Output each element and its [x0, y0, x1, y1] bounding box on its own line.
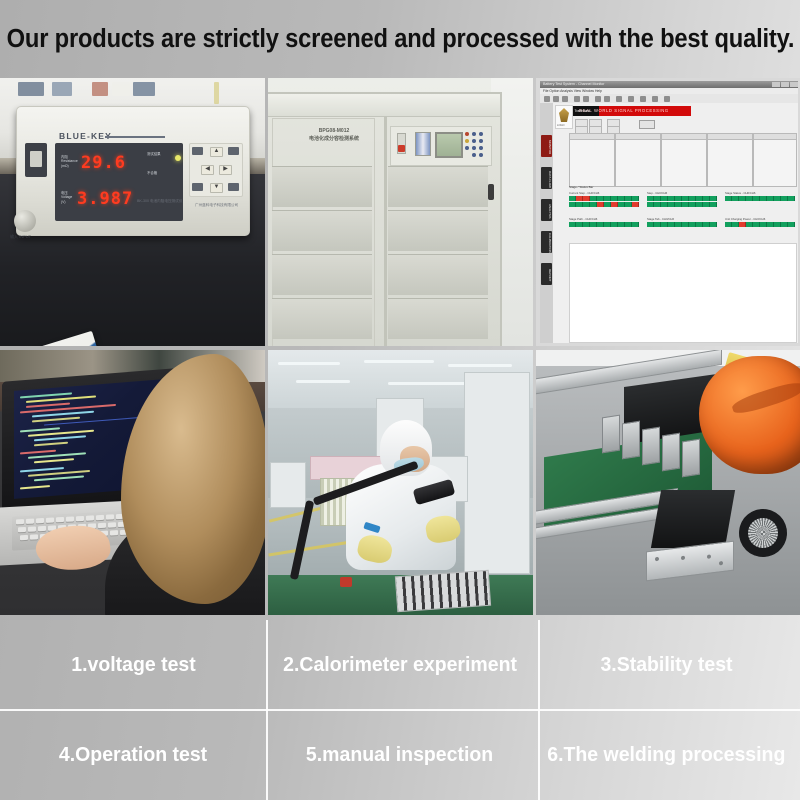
status-cell [732, 222, 739, 227]
status-cell [604, 196, 611, 201]
window-title: Battery Test System - Channel Monitor [543, 82, 604, 86]
status-cell [597, 196, 604, 201]
cell-clamp [662, 433, 680, 472]
clamp-shelf [272, 254, 372, 295]
save-icon[interactable] [553, 96, 559, 102]
status-cell [760, 196, 767, 201]
strip-label: Unit Charging Power - CH0/CH6 [725, 217, 795, 221]
status-cell [725, 196, 732, 201]
stop-icon[interactable] [604, 96, 610, 102]
indicator-light-blue [465, 146, 469, 150]
panel-button[interactable] [472, 146, 476, 150]
status-cell [569, 202, 576, 207]
shelf-object [112, 82, 130, 96]
strip-label: Step - CH0/CH6 [647, 191, 717, 195]
indicator-light-yellow [465, 139, 469, 143]
fail-label: 不合格 [147, 171, 157, 175]
param-table [707, 133, 753, 187]
status-cell [590, 196, 597, 201]
status-cell [675, 222, 682, 227]
status-strip [647, 202, 717, 207]
side-cabinet [270, 462, 306, 508]
cable-connector [14, 210, 36, 232]
panel-button[interactable] [472, 153, 476, 157]
power-switch[interactable] [397, 133, 406, 154]
panel-button[interactable] [472, 132, 476, 136]
settings-icon[interactable] [616, 96, 622, 102]
sidebar-item-calibration[interactable]: CALIBRATION [541, 231, 552, 253]
status-cell [576, 196, 583, 201]
key-up-arrow[interactable]: ▲ [210, 147, 223, 157]
caption-text-1: 1.voltage test [71, 653, 195, 677]
open-icon[interactable] [544, 96, 550, 102]
table-icon[interactable] [583, 96, 589, 102]
minimize-button[interactable] [772, 82, 780, 87]
status-cell [654, 222, 661, 227]
panel-button[interactable] [479, 132, 483, 136]
caption-text-3: 3.Stability test [601, 653, 733, 677]
red-component [340, 577, 352, 587]
cell-clamp [622, 421, 640, 460]
status-cell [781, 196, 788, 201]
param-table [753, 133, 797, 187]
strip-group: Current Step - CH0/CH6 [569, 191, 639, 208]
status-cell [625, 222, 632, 227]
clamp-shelf [388, 166, 488, 207]
panel-button[interactable] [479, 153, 483, 157]
status-cell [746, 196, 753, 201]
strip-group: Step - CH0/CH6 [647, 191, 717, 208]
component-tray [395, 570, 491, 612]
status-cell [774, 196, 781, 201]
chart-area-blank [569, 243, 797, 343]
page-title: Our products are strictly screened and p… [6, 25, 794, 54]
status-cell [767, 222, 774, 227]
caption-cell-4: 4.Operation test [0, 710, 267, 800]
status-strip [725, 196, 795, 201]
device-manufacturer-text: 广州蓝科电子科技有限公司 [195, 203, 238, 208]
play-icon[interactable] [595, 96, 601, 102]
status-cell [703, 222, 710, 227]
status-cell [647, 196, 654, 201]
status-strip [569, 196, 639, 201]
banner-text: REAL WORLD SIGNAL PROCESSING [579, 108, 669, 113]
caption-cell-2: 2.Calorimeter experiment [267, 620, 534, 710]
status-cell [710, 222, 717, 227]
status-cell [689, 222, 696, 227]
logo-emblem-icon [559, 108, 569, 122]
logo-caption: LOGO [557, 124, 565, 127]
toolbar[interactable] [540, 94, 798, 103]
status-cell [604, 202, 611, 207]
status-cell [689, 196, 696, 201]
caption-cell-3: 3.Stability test [533, 620, 800, 710]
caption-cell-1: 1.voltage test [0, 620, 267, 710]
status-cell [675, 196, 682, 201]
status-cell [710, 196, 717, 201]
status-cell [760, 222, 767, 227]
status-strip [569, 222, 639, 227]
param-table [569, 133, 615, 187]
status-cell [703, 202, 710, 207]
cabinet-center-divider [384, 116, 387, 346]
analog-meter [415, 132, 431, 156]
status-cell [632, 222, 639, 227]
shelf-object [52, 82, 72, 96]
status-cell [767, 196, 774, 201]
photo-voltage-test: BLUE-KEY 内阻 Resistance (mΩ) 29.6 电压 Volt… [0, 78, 265, 346]
status-cell [689, 202, 696, 207]
refresh-icon[interactable] [652, 96, 658, 102]
status-cell [611, 202, 618, 207]
clamp-shelf [272, 298, 372, 339]
key-return[interactable] [228, 183, 239, 191]
status-cell [654, 196, 661, 201]
input-port-label: 输入 INPUT [10, 234, 31, 239]
strip-label: Current Step - CH0/CH6 [569, 191, 639, 195]
status-cell [590, 222, 597, 227]
export-icon[interactable] [640, 96, 646, 102]
status-cell [611, 196, 618, 201]
drive-gear [739, 509, 787, 557]
software-window: Battery Test System - Channel Monitor Fi… [540, 81, 798, 343]
sidebar-item-data-flow[interactable]: DATA FLOW [541, 167, 552, 189]
status-cell [781, 222, 788, 227]
menu-items[interactable]: File Option Analysis View Window Help [543, 89, 602, 93]
photo-grid: BLUE-KEY 内阻 Resistance (mΩ) 29.6 电压 Volt… [0, 78, 800, 618]
device-socket [25, 143, 47, 177]
status-cell [647, 222, 654, 227]
status-cell [625, 202, 632, 207]
table-header [708, 134, 752, 140]
window-titlebar[interactable]: Battery Test System - Channel Monitor [540, 81, 798, 88]
status-cell [696, 202, 703, 207]
sidebar-item-monitor[interactable]: MONITOR [541, 135, 552, 157]
status-cell [625, 196, 632, 201]
status-cell [604, 222, 611, 227]
cell-clamp [602, 415, 620, 454]
status-cell [682, 196, 689, 201]
device-keypad[interactable]: ▲ ◀ ▶ ▼ [189, 143, 243, 197]
status-cell [788, 196, 795, 201]
maximize-button[interactable] [781, 82, 789, 87]
cabinet-door-handle[interactable] [488, 184, 494, 200]
status-strip [725, 222, 795, 227]
strip-group: Stage Tab - CH0/CH6 [647, 217, 717, 228]
indicator-light-red [465, 132, 469, 136]
socket-insert [30, 151, 42, 167]
status-cell [618, 222, 625, 227]
status-cell [661, 196, 668, 201]
status-cell [668, 222, 675, 227]
status-cell [618, 202, 625, 207]
caption-text-2: 2.Calorimeter experiment [283, 653, 517, 677]
formation-cabinet: BPG08-M012 电池化成分容检测系统 [268, 92, 502, 346]
status-cell [590, 202, 597, 207]
shelf-object [133, 82, 155, 96]
table-header [570, 134, 614, 140]
key-right-arrow[interactable]: ▶ [219, 165, 232, 175]
search-icon[interactable] [628, 96, 634, 102]
resistance-label: 内阻 Resistance (mΩ) [61, 155, 78, 168]
key-setting[interactable] [192, 147, 203, 155]
caption-cell-5: 5.manual inspection [267, 710, 534, 800]
panel-button[interactable] [472, 139, 476, 143]
status-strip [569, 202, 639, 207]
photo-manual-inspection [268, 350, 533, 615]
caption-grid: 1.voltage test 2.Calorimeter experiment … [0, 620, 800, 800]
display-panel: 内阻 Resistance (mΩ) 29.6 电压 Voltage (V) 3… [55, 143, 183, 221]
clamp-shelf [272, 166, 372, 207]
status-cell [774, 222, 781, 227]
cell-clamp [642, 427, 660, 466]
status-cell [576, 202, 583, 207]
strip-group: Stage Path - CH0/CH6 [569, 217, 639, 228]
cell-clamp [682, 439, 700, 478]
resistance-reading: 29.6 [81, 153, 126, 173]
help-icon[interactable] [664, 96, 670, 102]
clamp-shelf [388, 298, 488, 339]
photo-operation-test [0, 350, 265, 615]
section-label: Stage / Status Bar [569, 185, 593, 189]
status-cell [647, 202, 654, 207]
table-header [616, 134, 660, 140]
caption-text-6: 6.The welding processing [548, 743, 786, 767]
param-table [615, 133, 661, 187]
caption-text-5: 5.manual inspection [306, 743, 493, 767]
caption-text-4: 4.Operation test [59, 743, 207, 767]
table-header [662, 134, 706, 140]
go-button[interactable] [639, 120, 655, 129]
shelf-object [92, 82, 108, 96]
machine-enclosure [464, 372, 530, 574]
status-cell [583, 222, 590, 227]
photo-stability-software: Battery Test System - Channel Monitor Fi… [536, 78, 800, 346]
status-cell [725, 222, 732, 227]
switch-knob[interactable] [398, 145, 405, 152]
status-cell [682, 222, 689, 227]
strip-label: Stage Status - CH0/CH6 [725, 191, 795, 195]
device-model-text: BK-300 电池内阻电压测试仪 [137, 199, 182, 204]
status-cell [597, 202, 604, 207]
status-cell [668, 196, 675, 201]
status-cell [661, 202, 668, 207]
voltage-label: 电压 Voltage (V) [61, 191, 72, 204]
caption-cell-6: 6.The welding processing [533, 710, 800, 800]
clamp-shelf [388, 254, 488, 295]
status-cell [654, 202, 661, 207]
company-logo: LOGO [555, 105, 573, 129]
strip-group: Unit Charging Power - CH0/CH6 [725, 217, 795, 228]
sidebar-tabs[interactable]: MONITOR DATA FLOW ANALYSIS CALIBRATION R… [540, 103, 553, 343]
status-led-indicator [175, 155, 181, 161]
status-cell [569, 196, 576, 201]
status-cell [682, 202, 689, 207]
status-cell [576, 222, 583, 227]
status-cell [618, 196, 625, 201]
status-cell [632, 196, 639, 201]
panel-button[interactable] [479, 139, 483, 143]
product-quality-infographic: Our products are strictly screened and p… [0, 0, 800, 800]
clamp-shelf [388, 210, 488, 251]
status-strip [647, 196, 717, 201]
status-cell [569, 222, 576, 227]
status-cell [675, 202, 682, 207]
status-cell [632, 202, 639, 207]
brand-underline [105, 136, 165, 138]
status-cell [597, 222, 604, 227]
key-left-arrow[interactable]: ◀ [201, 165, 214, 175]
sidebar-item-analysis[interactable]: ANALYSIS [541, 199, 552, 221]
strip-label: Stage Path - CH0/CH6 [569, 217, 639, 221]
status-cell [753, 196, 760, 201]
status-cell [583, 202, 590, 207]
status-cell [696, 222, 703, 227]
key-down-arrow[interactable]: ▼ [210, 183, 223, 193]
status-cell [583, 196, 590, 201]
welding-head-mount [651, 490, 735, 548]
close-button[interactable] [790, 82, 798, 87]
status-cell [703, 196, 710, 201]
lcd-screen [435, 132, 463, 158]
robot-seam [730, 379, 800, 417]
software-content-area: LOGO Trademark REAL WORLD SIGNAL PROCESS… [553, 103, 798, 343]
status-cell [696, 196, 703, 201]
status-cell [739, 222, 746, 227]
resistance-meter-device: BLUE-KEY 内阻 Resistance (mΩ) 29.6 电压 Volt… [16, 106, 250, 236]
status-cell [739, 196, 746, 201]
caption-divider-horizontal [0, 709, 800, 711]
key-start[interactable] [192, 183, 203, 191]
status-cell [753, 222, 760, 227]
filter-button-group[interactable] [575, 119, 635, 130]
panel-button[interactable] [479, 146, 483, 150]
status-cell [661, 222, 668, 227]
chart-icon[interactable] [574, 96, 580, 102]
status-cell [746, 222, 753, 227]
print-icon[interactable] [562, 96, 568, 102]
status-cell [710, 202, 717, 207]
photo-welding-processing [536, 350, 800, 615]
strip-label: Stage Tab - CH0/CH6 [647, 217, 717, 221]
status-cell [611, 222, 618, 227]
param-table [661, 133, 707, 187]
shelf-object [18, 82, 44, 96]
clamp-shelf [272, 210, 372, 251]
cabinet-top-trim [268, 94, 500, 117]
strip-group: Stage Status - CH0/CH6 [725, 191, 795, 202]
shelf-object [214, 82, 219, 104]
sidebar-item-report[interactable]: REPORT [541, 263, 552, 285]
channel-status-strips: Current Step - CH0/CH6 Step - CH0/CH6 [569, 191, 795, 239]
result-label: 测试结果 [147, 152, 161, 156]
cabinet-control-panel[interactable] [390, 126, 492, 166]
status-strip [647, 222, 717, 227]
voltage-reading: 3.987 [77, 189, 133, 209]
header-banner: Our products are strictly screened and p… [0, 0, 800, 78]
status-cell [732, 196, 739, 201]
key-reset[interactable] [228, 147, 239, 155]
status-cell [788, 222, 795, 227]
table-header [754, 134, 796, 140]
status-cell [668, 202, 675, 207]
photo-calorimeter-cabinet: BPG08-M012 电池化成分容检测系统 [268, 78, 533, 346]
